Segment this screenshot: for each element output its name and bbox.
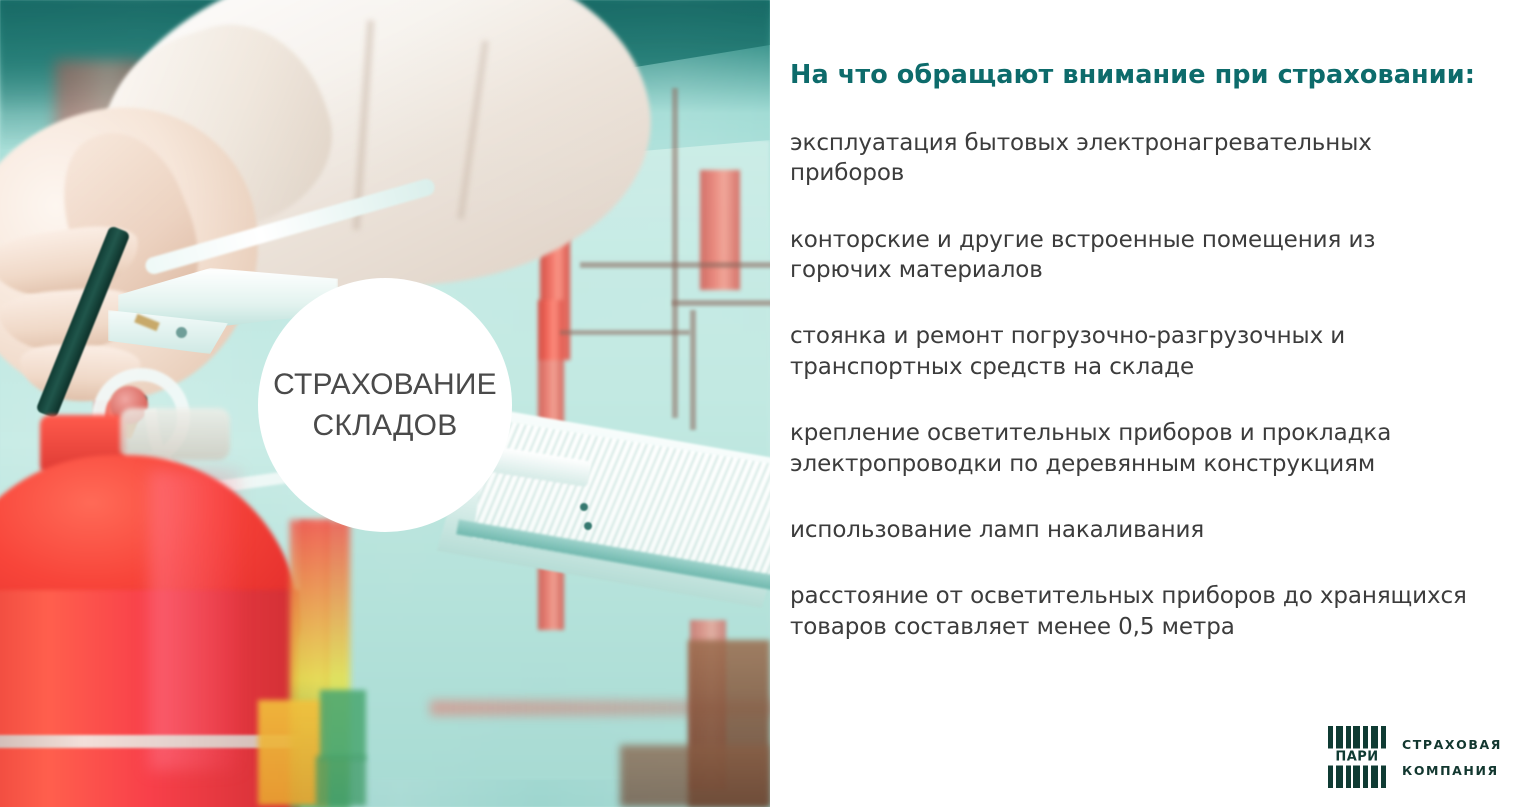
insurance-point: стоянка и ремонт погрузочно-разгрузочных… bbox=[790, 321, 1480, 382]
photo-extinguisher-seam bbox=[0, 735, 300, 748]
title-badge-label: СТРАХОВАНИЕ СКЛАДОВ bbox=[273, 364, 497, 447]
logo-tagline-line-2: КОМПАНИЯ bbox=[1402, 763, 1502, 778]
photo-conduit-horizontal-1 bbox=[580, 262, 770, 268]
photo-conduit-horizontal-3 bbox=[560, 330, 690, 335]
logo-tagline-line-1: СТРАХОВАЯ bbox=[1402, 737, 1502, 752]
photo-conduit-vertical-2 bbox=[690, 310, 696, 430]
photo-extinguisher-cap bbox=[120, 408, 230, 460]
insurance-point: конторские и другие встроенные помещения… bbox=[790, 225, 1480, 286]
photo-clipboard-rivet-1 bbox=[580, 503, 588, 511]
company-logo: ПАРИ СТРАХОВАЯ КОМПАНИЯ bbox=[1328, 726, 1502, 788]
insurance-point: расстояние от осветительных приборов до … bbox=[790, 581, 1480, 642]
photo-extinguisher-highlight bbox=[150, 470, 240, 770]
hero-photo: СТРАХОВАНИЕ СКЛАДОВ bbox=[0, 0, 770, 807]
content-heading: На что обращают внимание при страховании… bbox=[790, 60, 1490, 90]
insurance-points-list: эксплуатация бытовых электронагревательн… bbox=[790, 128, 1480, 642]
insurance-point: крепление осветительных приборов и прокл… bbox=[790, 418, 1480, 479]
insurance-point: эксплуатация бытовых электронагревательн… bbox=[790, 128, 1480, 189]
title-badge-circle: СТРАХОВАНИЕ СКЛАДОВ bbox=[258, 278, 512, 532]
photo-label-green-2 bbox=[316, 756, 366, 806]
photo-pipe-right-upper bbox=[700, 170, 740, 290]
pari-barcode-icon: ПАРИ bbox=[1328, 726, 1386, 788]
photo-label-green bbox=[320, 690, 366, 760]
photo-cardboard-box-2 bbox=[620, 745, 770, 807]
slide-root: СТРАХОВАНИЕ СКЛАДОВ На что обращают вним… bbox=[0, 0, 1531, 807]
photo-conduit-vertical bbox=[672, 88, 678, 418]
logo-tagline: СТРАХОВАЯ КОМПАНИЯ bbox=[1402, 737, 1502, 778]
photo-conduit-horizontal-2 bbox=[672, 300, 770, 306]
photo-extinguisher-pin bbox=[176, 327, 187, 338]
photo-clipboard-rivet-2 bbox=[584, 522, 592, 530]
logo-brand-name: ПАРИ bbox=[1328, 749, 1386, 766]
content-panel: На что обращают внимание при страховании… bbox=[770, 0, 1531, 807]
insurance-point: использование ламп накаливания bbox=[790, 515, 1480, 545]
